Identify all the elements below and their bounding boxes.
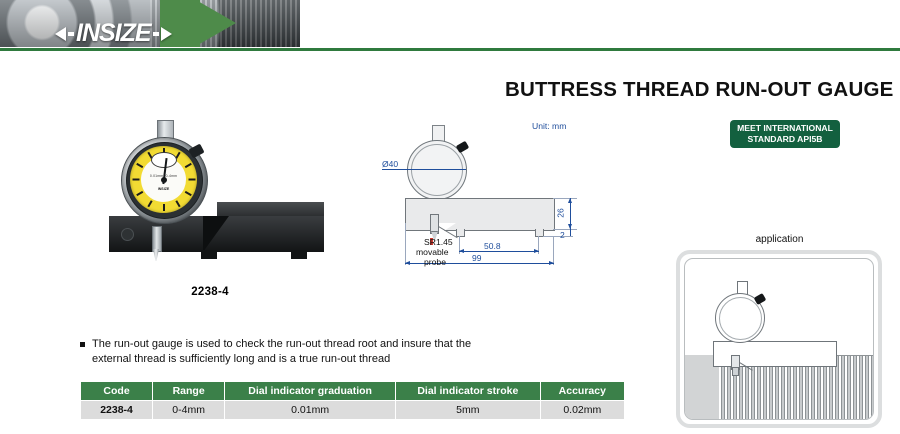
green-chevron-icon [196, 0, 236, 46]
cell-accuracy: 0.02mm [540, 401, 624, 420]
dim-arrow-26-top [568, 198, 572, 203]
page-title: BUTTRESS THREAD RUN-OUT GAUGE [505, 78, 893, 102]
product-body-bevel [203, 216, 229, 252]
product-photo: 0.01mm 0-4mm INSIZE [95, 120, 325, 270]
col-header-accuracy: Accuracy [540, 382, 624, 401]
product-foot-right [291, 250, 307, 259]
col-header-stroke: Dial indicator stroke [396, 382, 540, 401]
dial-indicator-face: 0.01mm 0-4mm INSIZE [130, 146, 197, 213]
table-header-row: Code Range Dial indicator graduation Dia… [81, 382, 625, 401]
cell-code: 2238-4 [81, 401, 153, 420]
dim-arrow-99-right [549, 261, 554, 265]
cell-stroke: 5mm [396, 401, 540, 420]
application-inner-frame [684, 258, 874, 420]
dim-label-diameter: Ø40 [382, 159, 398, 169]
application-dial-inner [719, 297, 762, 340]
drawing-unit-label: Unit: mm [532, 121, 566, 131]
dim-arrow-508-left [459, 249, 464, 253]
ext-line-bottom-26 [553, 229, 577, 230]
product-probe-tip [153, 249, 159, 261]
ext-line-top-26 [553, 198, 577, 199]
col-header-graduation: Dial indicator graduation [225, 382, 396, 401]
bullet-square-icon [80, 342, 85, 347]
logo-left-arrow-icon [55, 27, 66, 41]
probe-note-line-2: movable [416, 247, 448, 257]
application-probe-tip [732, 367, 739, 376]
dim-arrow-99-left [405, 261, 410, 265]
logo-right-arrow-icon [161, 27, 172, 41]
table-row: 2238-4 0-4mm 0.01mm 5mm 0.02mm [81, 401, 625, 420]
insize-logo: INSIZE [55, 19, 172, 48]
dim-line-diameter [382, 169, 466, 170]
dim-label-508: 50.8 [484, 241, 501, 251]
drawing-dial-inner [411, 144, 463, 196]
dim-label-99: 99 [472, 253, 481, 263]
ext-line-left-99 [405, 223, 406, 265]
cell-graduation: 0.01mm [225, 401, 396, 420]
technical-drawing: Unit: mm Ø40 26 2 50.8 99 SR1.45 movable… [380, 118, 610, 283]
description-bullets: The run-out gauge is used to check the r… [80, 337, 500, 366]
probe-note-line-1: SR1.45 [424, 237, 453, 247]
drawing-dial-knob [456, 141, 470, 153]
dim-label-26: 26 [556, 208, 566, 217]
ext-line-2 [543, 236, 573, 237]
drawing-foot-left [456, 229, 465, 237]
product-foot-left [201, 250, 217, 259]
logo-text: INSIZE [76, 19, 151, 48]
dim-arrow-508-right [534, 249, 539, 253]
application-illustration-box [676, 250, 882, 428]
product-probe [152, 226, 162, 252]
dim-line-508 [459, 251, 539, 252]
badge-line-2: STANDARD API5B [748, 134, 823, 145]
logo-left-bar [68, 32, 74, 36]
col-header-range: Range [153, 382, 225, 401]
cell-range: 0-4mm [153, 401, 225, 420]
dial-needle-hub [161, 177, 167, 183]
product-code-caption: 2238-4 [95, 286, 325, 298]
standard-badge: MEET INTERNATIONAL STANDARD API5B [730, 120, 840, 148]
specification-table: Code Range Dial indicator graduation Dia… [80, 381, 625, 420]
dim-label-2: 2 [560, 230, 565, 240]
col-header-code: Code [81, 382, 153, 401]
logo-right-bar [153, 32, 159, 36]
bullet-text: The run-out gauge is used to check the r… [92, 337, 500, 366]
dial-brand-text: INSIZE [130, 187, 197, 191]
page-header: INSIZE [0, 0, 900, 52]
product-body-top [217, 202, 324, 217]
badge-line-1: MEET INTERNATIONAL [737, 123, 833, 134]
application-title: application [672, 234, 887, 245]
bullet-item: The run-out gauge is used to check the r… [80, 337, 500, 366]
drawing-gauge-body [405, 198, 555, 231]
probe-note-line-3: probe [424, 257, 446, 267]
header-divider-rule-thin [0, 50, 900, 51]
product-clamp-screw [121, 228, 134, 241]
